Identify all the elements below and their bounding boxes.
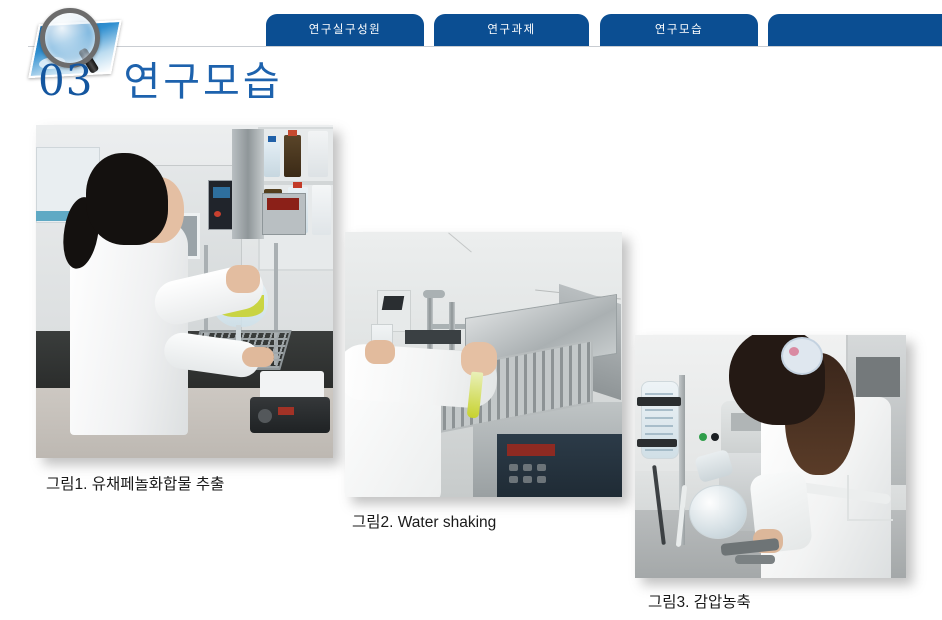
slide-canvas: 연구실구성원 연구과제 연구모습 03 연구모습	[0, 0, 942, 620]
tab-research-photos-label: 연구모습	[655, 21, 703, 37]
photo1-stirrer-indicator	[278, 407, 294, 415]
tab-lab-members-label: 연구실구성원	[309, 21, 381, 37]
photo2-control-button	[537, 464, 546, 471]
tab-research-projects-label: 연구과제	[487, 21, 535, 37]
photo2-hand	[461, 342, 497, 376]
figure-1-caption: 그림1. 유채페놀화합물 추출	[46, 472, 224, 494]
figure-1-image[interactable]	[36, 125, 333, 458]
photo1-steel-column	[232, 129, 264, 239]
photo1-stirrer-knob	[258, 409, 272, 423]
figure-3-photo	[635, 335, 906, 578]
photo2-side-unit-panel	[382, 296, 404, 310]
photo2-faucet-handle	[423, 290, 445, 298]
page-title: 03 연구모습	[38, 60, 283, 102]
photo2-control-button	[523, 464, 532, 471]
photo3-clamp	[637, 439, 677, 447]
photo2-control-button	[509, 464, 518, 471]
photo1-reagent-bottle	[264, 141, 280, 177]
top-tab-bar: 연구실구성원 연구과제 연구모습	[0, 0, 942, 47]
photo3-power-led	[699, 433, 707, 441]
photo1-reagent-bottle	[312, 185, 331, 235]
figure-3-image[interactable]	[635, 335, 906, 578]
tab-lab-members[interactable]: 연구실구성원	[266, 14, 424, 46]
photo2-control-button	[523, 476, 532, 483]
photo2-control-button	[537, 476, 546, 483]
photo2-sink	[405, 330, 461, 344]
photo2-control-display	[507, 444, 555, 456]
photo2-hand	[365, 340, 395, 364]
photo3-bench-tool	[735, 555, 775, 564]
photo2-control-button	[509, 476, 518, 483]
tab-next[interactable]	[768, 14, 942, 46]
figure-3-caption: 그림3. 감압농축	[648, 590, 751, 612]
figure-2-caption: 그림2. Water shaking	[352, 510, 496, 532]
photo1-reagent-bottle	[284, 135, 301, 177]
slide-title-text: 연구모습	[123, 62, 282, 102]
photo3-side-equipment-panel	[856, 357, 900, 397]
figure-1-photo	[36, 125, 333, 458]
photo1-hair	[86, 153, 168, 245]
photo1-hand	[226, 265, 260, 293]
figure-2-photo	[345, 232, 622, 497]
slide-number: 03	[38, 60, 93, 102]
photo1-reagent-bottle	[308, 131, 328, 177]
photo3-switch	[711, 433, 719, 441]
photo3-hair-scrunchie	[781, 337, 823, 375]
tab-research-projects[interactable]: 연구과제	[434, 14, 589, 46]
figure-2-image[interactable]	[345, 232, 622, 497]
tab-research-photos[interactable]: 연구모습	[600, 14, 758, 46]
photo3-coat-pocket	[847, 475, 893, 521]
header-divider-line	[28, 46, 942, 47]
photo3-round-flask	[689, 485, 747, 539]
photo1-hand	[242, 347, 274, 367]
photo1-meter-display	[267, 198, 299, 210]
photo3-clamp	[637, 397, 681, 406]
